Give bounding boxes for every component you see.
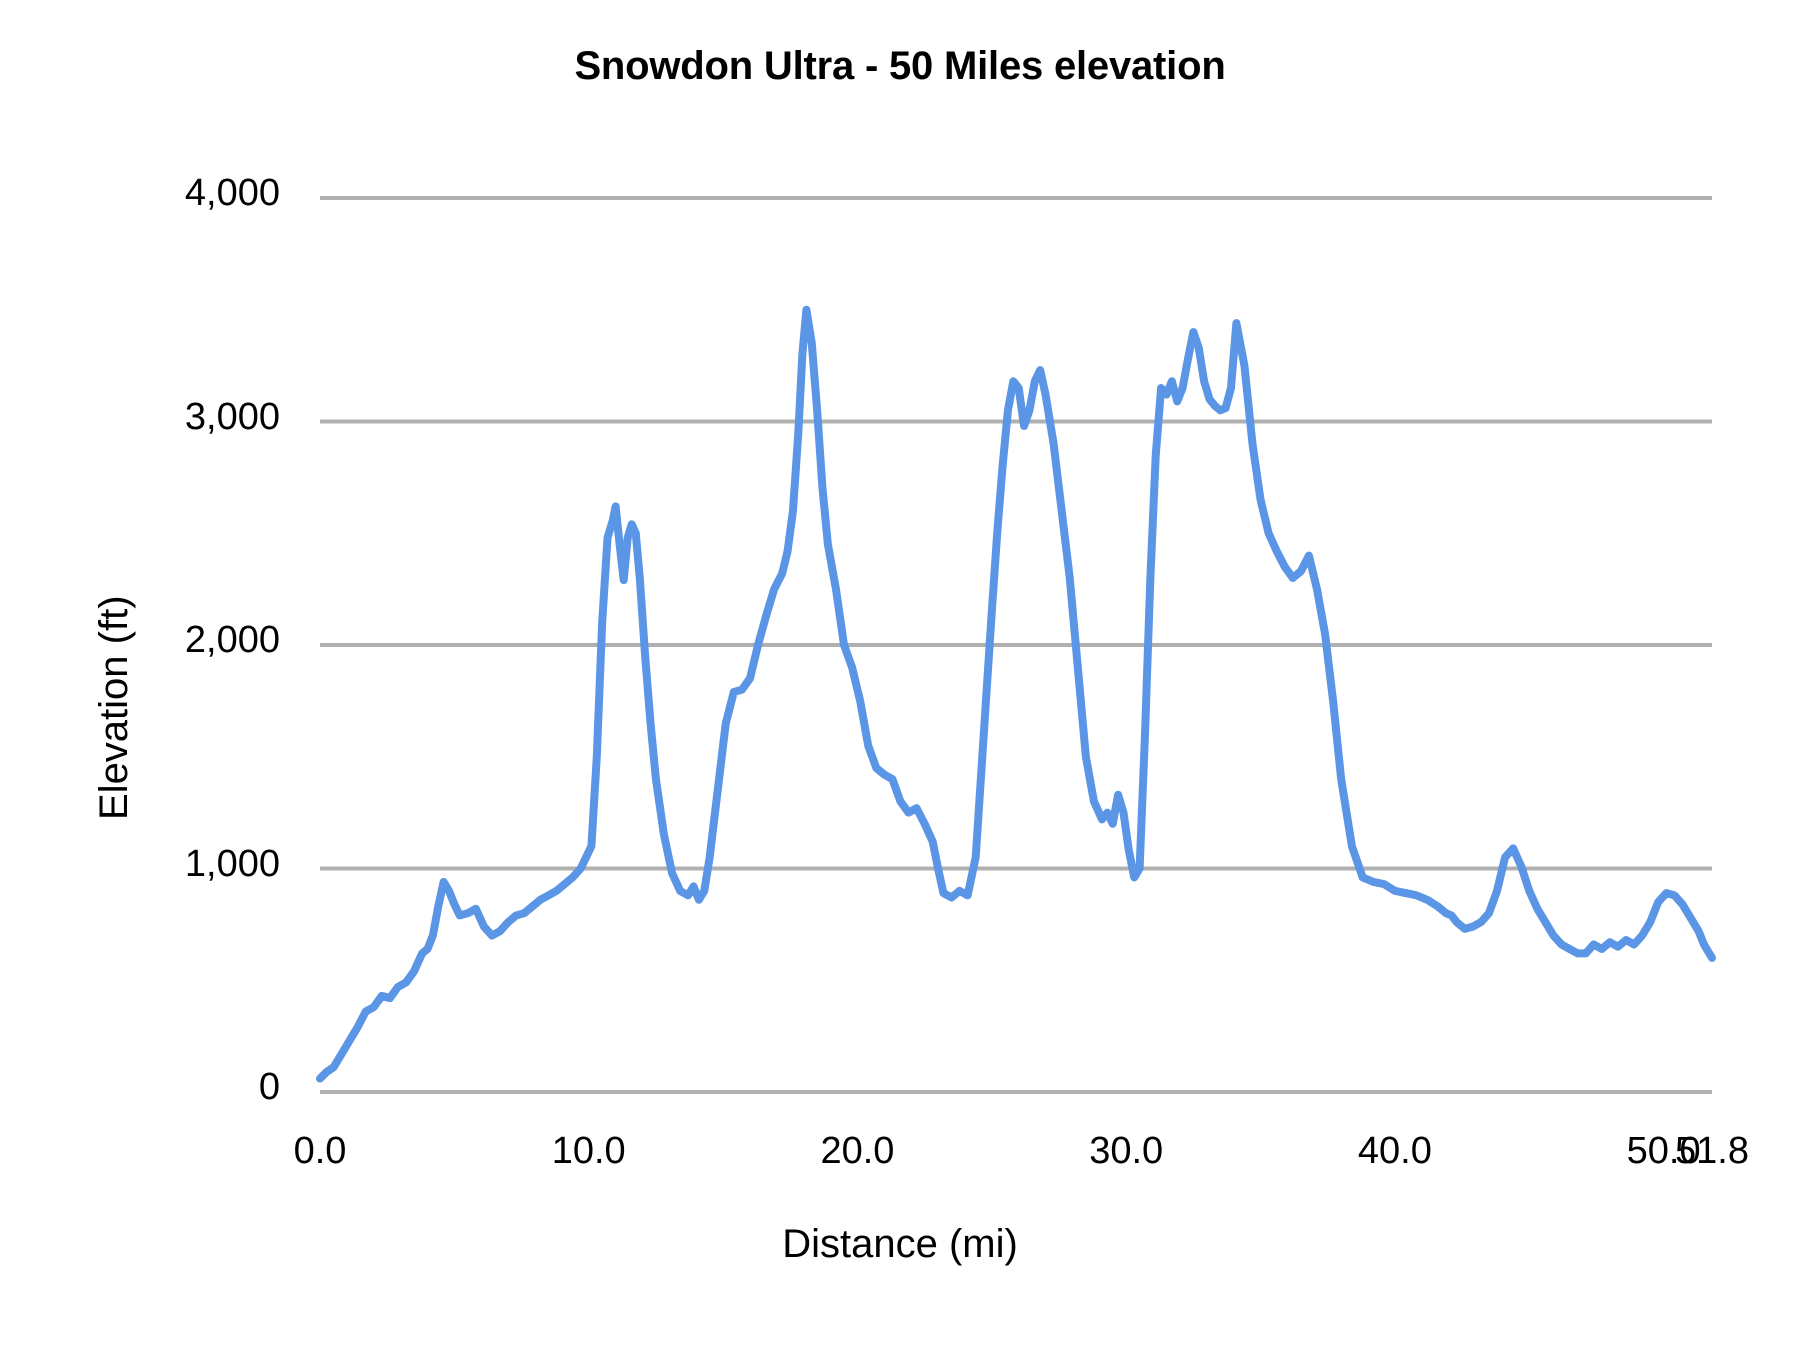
series-group [320,310,1712,1079]
x-tick-label: 40.0 [1305,1130,1485,1173]
series-line [320,310,1712,1079]
gridlines [320,198,1712,1092]
y-tick-label: 1,000 [100,843,280,886]
x-tick-label: 0.0 [230,1130,410,1173]
x-tick-label: 10.0 [499,1130,679,1173]
y-tick-label: 3,000 [100,396,280,439]
x-tick-label: 20.0 [767,1130,947,1173]
x-tick-label: 30.0 [1036,1130,1216,1173]
x-axis-title: Distance (mi) [0,1222,1800,1267]
x-tick-label: 51.8 [1622,1130,1800,1173]
y-tick-label: 0 [100,1066,280,1109]
y-tick-label: 4,000 [100,172,280,215]
y-axis-title: Elevation (ft) [92,595,137,820]
elevation-chart: Snowdon Ultra - 50 Miles elevation 4,000… [0,0,1800,1350]
